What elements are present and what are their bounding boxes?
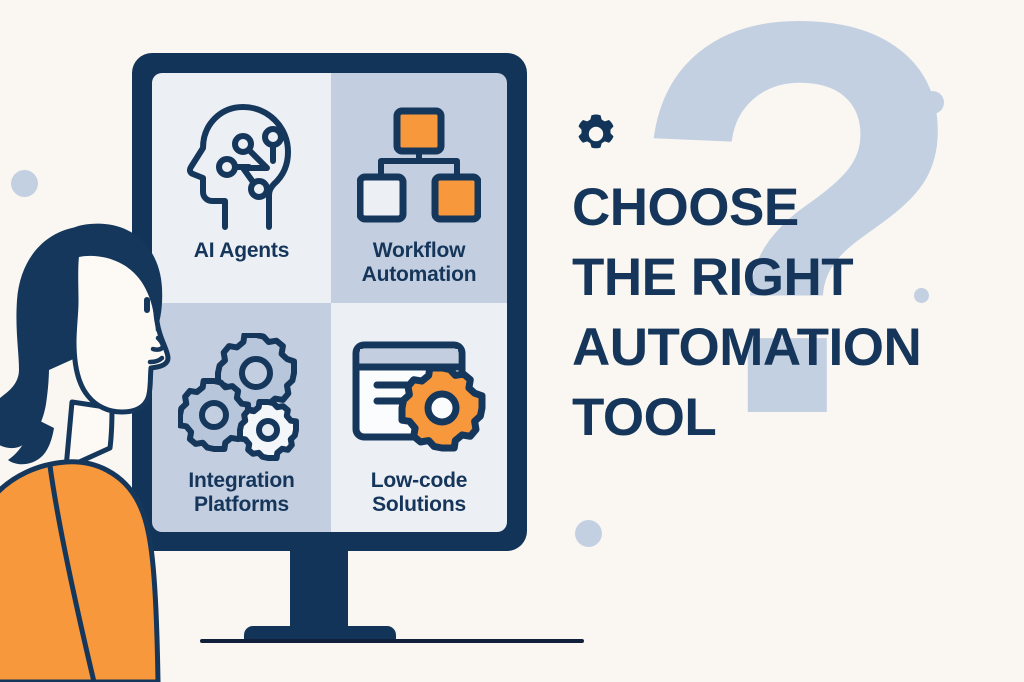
workflow-label-line2: Automation bbox=[362, 263, 477, 287]
quadrant-workflow-automation[interactable]: Workflow Automation bbox=[331, 73, 507, 303]
woman-illustration bbox=[0, 222, 220, 682]
lowcode-label-line1: Low-code bbox=[371, 469, 467, 493]
headline-line-3: AUTOMATION bbox=[572, 323, 992, 374]
headline-line-2: THE RIGHT bbox=[572, 253, 992, 304]
monitor-stand-neck bbox=[290, 549, 348, 635]
quadrant-label-low-code-solutions: Low-code Solutions bbox=[371, 469, 467, 516]
quadrant-label-workflow-automation: Workflow Automation bbox=[362, 239, 477, 286]
floor-line bbox=[200, 639, 584, 643]
quadrant-low-code-solutions[interactable]: Low-code Solutions bbox=[331, 303, 507, 532]
illustration-canvas: ? AI Agents bbox=[0, 0, 1024, 682]
workflow-tree-icon bbox=[357, 97, 481, 237]
headline: CHOOSE THE RIGHT AUTOMATION TOOL bbox=[572, 183, 992, 463]
headline-line-1: CHOOSE bbox=[572, 183, 992, 234]
lowcode-label-line2: Solutions bbox=[371, 493, 467, 517]
ai-brain-icon bbox=[181, 97, 303, 237]
workflow-label-line1: Workflow bbox=[362, 239, 477, 263]
browser-gear-icon bbox=[351, 327, 487, 467]
headline-line-4: TOOL bbox=[572, 393, 992, 444]
dot-bottom-center bbox=[575, 520, 602, 547]
gear-icon bbox=[576, 114, 616, 154]
dot-left-upper bbox=[11, 170, 38, 197]
